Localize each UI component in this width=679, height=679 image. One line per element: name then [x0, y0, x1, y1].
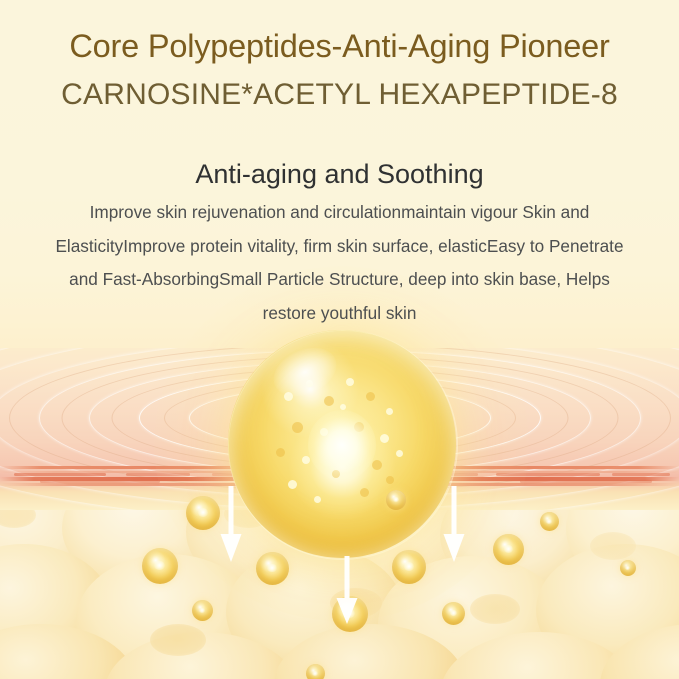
absorption-arrow — [214, 486, 248, 566]
absorption-arrow — [330, 556, 364, 628]
serum-droplet — [493, 534, 524, 565]
serum-droplet — [192, 600, 213, 621]
absorption-arrow — [437, 486, 471, 566]
serum-droplet — [620, 560, 636, 576]
page-title: Core Polypeptides-Anti-Aging Pioneer — [0, 28, 679, 65]
serum-droplet — [142, 548, 178, 584]
serum-droplet — [306, 664, 325, 679]
body-description: Improve skin rejuvenation and circulatio… — [55, 196, 624, 330]
headline-text-block: Core Polypeptides-Anti-Aging Pioneer CAR… — [0, 0, 679, 348]
serum-droplet — [442, 602, 465, 625]
serum-droplet — [386, 490, 406, 510]
page-subtitle: CARNOSINE*ACETYL HEXAPEPTIDE-8 — [0, 78, 679, 113]
serum-droplet — [540, 512, 559, 531]
serum-droplet — [392, 550, 426, 584]
serum-droplet — [256, 552, 289, 585]
product-infographic-poster: Core Polypeptides-Anti-Aging Pioneer CAR… — [0, 0, 679, 679]
section-heading: Anti-aging and Soothing — [0, 158, 679, 190]
